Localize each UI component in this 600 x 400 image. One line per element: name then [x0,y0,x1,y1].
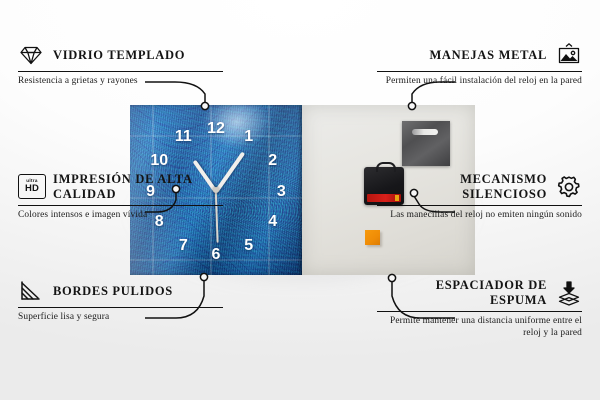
polished-edges-icon [18,278,44,304]
callout-title: MANEJAS METAL [429,48,547,63]
callout-rule [18,71,223,72]
callout-title: IMPRESIÓN DE ALTA CALIDAD [53,172,223,202]
infographic-canvas: 12 1 2 3 4 5 6 7 8 9 10 11 [0,0,600,400]
callout-bordes-pulidos: BORDES PULIDOS Superficie lisa y segura [18,278,223,323]
metal-hanger-plate [402,121,450,166]
callout-header: BORDES PULIDOS [18,278,223,304]
callout-description: Resistencia a grietas y rayones [18,75,223,87]
callout-impresion-alta-calidad: ultra HD IMPRESIÓN DE ALTA CALIDAD Color… [18,172,223,221]
ultra-hd-icon-large-text: HD [25,184,39,194]
callout-header: ESPACIADOR DE ESPUMA [377,278,582,308]
foam-spacer-icon [556,280,582,306]
callout-espaciador-espuma: ESPACIADOR DE ESPUMA Permite mantener un… [377,278,582,339]
gear-icon [556,174,582,200]
callout-header: ultra HD IMPRESIÓN DE ALTA CALIDAD [18,172,223,202]
foam-spacer-square [365,230,380,245]
callout-header: MANEJAS METAL [377,42,582,68]
callout-mecanismo-silencioso: MECANISMO SILENCIOSO Las manecillas del … [377,172,582,221]
callout-description: Colores intensos e imagen vívida [18,209,223,221]
callout-rule [377,71,582,72]
hanger-slot [412,129,438,135]
callout-title: VIDRIO TEMPLADO [53,48,185,63]
callout-description: Las manecillas del reloj no emiten ningú… [377,209,582,221]
mechanism-hanger-loop [376,162,396,172]
callout-manejas-metal: MANEJAS METAL Permiten una fácil instala… [377,42,582,87]
callout-description: Permiten una fácil instalación del reloj… [377,75,582,87]
diamond-icon [18,42,44,68]
callout-title: BORDES PULIDOS [53,284,173,299]
callout-vidrio-templado: VIDRIO TEMPLADO Resistencia a grietas y … [18,42,223,87]
callout-title: ESPACIADOR DE ESPUMA [377,278,547,308]
callout-rule [18,205,223,206]
callout-header: VIDRIO TEMPLADO [18,42,223,68]
callout-rule [377,311,582,312]
callout-rule [18,307,223,308]
picture-hanger-icon [556,42,582,68]
callout-rule [377,205,582,206]
callout-description: Permite mantener una distancia uniforme … [377,315,582,340]
callout-description: Superficie lisa y segura [18,311,223,323]
ultra-hd-icon: ultra HD [18,174,44,200]
callout-title: MECANISMO SILENCIOSO [377,172,547,202]
callout-header: MECANISMO SILENCIOSO [377,172,582,202]
